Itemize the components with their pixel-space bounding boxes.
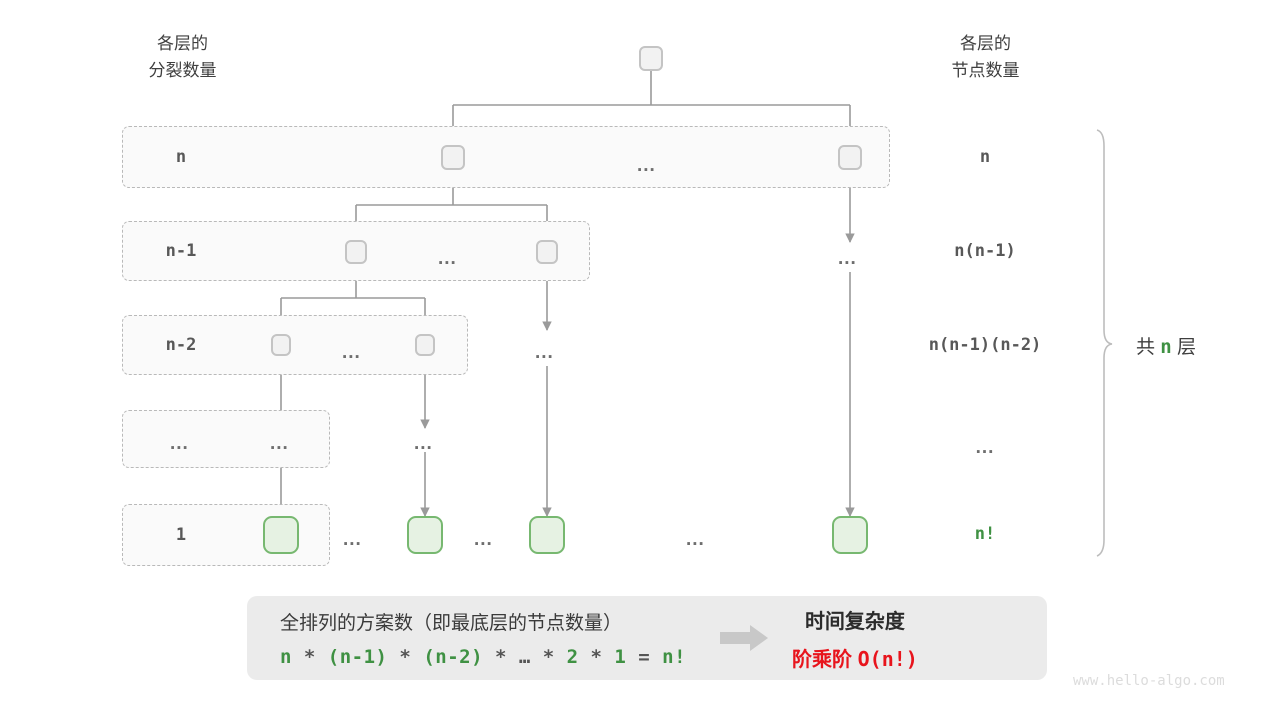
formula-token: (n-2) [423,646,483,668]
split-count-level-3: n-2 [150,335,212,355]
tree-node [345,240,367,264]
tree-node [415,334,435,356]
level-band-1 [122,126,890,188]
ellipsis: ... [535,343,554,362]
ellipsis: ... [637,156,656,175]
tree-node-leaf [263,516,299,554]
node-count-level-4: ... [905,438,1065,457]
tree-node [536,240,558,264]
ellipsis: ... [438,249,457,268]
level-brace [1097,130,1112,556]
tree-node-root [639,46,663,71]
node-count-level-1: n [905,147,1065,167]
formula-token: (n-1) [328,646,388,668]
complexity-label: 阶乘阶 [792,649,852,671]
total-levels-caption: 共 n 层 [1136,332,1196,359]
right-column-caption: 各层的 节点数量 [903,30,1068,84]
tree-node [441,145,465,170]
ellipsis: ... [838,249,857,268]
brace-prefix: 共 [1136,337,1155,358]
summary-title: 全排列的方案数（即最底层的节点数量） [280,608,686,635]
ellipsis: ... [342,343,361,362]
watermark: www.hello-algo.com [1073,673,1225,689]
summary-formula: n * (n-1) * (n-2) * … * 2 * 1 = n! [280,646,686,668]
ellipsis: ... [270,434,289,453]
ellipsis: ... [474,530,493,549]
formula-token: n [280,646,292,668]
summary-right: 时间复杂度 阶乘阶 O(n!) [792,605,918,672]
left-column-caption: 各层的 分裂数量 [100,30,265,84]
formula-token: 1 [614,646,626,668]
formula-token: n! [662,646,686,668]
tree-node-leaf [832,516,868,554]
level-band-4 [122,410,330,468]
brace-variable: n [1160,336,1171,358]
split-count-level-1: n [150,147,212,167]
node-count-level-2: n(n-1) [905,241,1065,261]
tree-node-leaf [407,516,443,554]
split-count-level-5: 1 [150,525,212,545]
ellipsis: ... [343,530,362,549]
tree-node [271,334,291,356]
ellipsis: ... [686,530,705,549]
summary-left: 全排列的方案数（即最底层的节点数量） n * (n-1) * (n-2) * …… [247,608,686,668]
split-count-level-4: ... [170,434,189,453]
tree-node-leaf [529,516,565,554]
complexity-value: 阶乘阶 O(n!) [792,643,918,672]
formula-token: * [579,646,615,668]
node-count-level-5: n! [905,524,1065,544]
formula-token: * … * [483,646,567,668]
right-arrow-icon [720,624,770,652]
formula-token: * [292,646,328,668]
formula-token: * [387,646,423,668]
ellipsis: ... [414,434,433,453]
diagram-canvas: 各层的 分裂数量 各层的 节点数量 n ... n n-1 ... ... n(… [0,0,1280,720]
brace-suffix: 层 [1177,337,1196,358]
complexity-notation: O(n!) [858,647,918,671]
node-count-level-3: n(n-1)(n-2) [905,335,1065,355]
formula-token: 2 [567,646,579,668]
complexity-title: 时间复杂度 [805,605,905,634]
formula-token: = [626,646,662,668]
split-count-level-2: n-1 [150,241,212,261]
tree-node [838,145,862,170]
summary-panel: 全排列的方案数（即最底层的节点数量） n * (n-1) * (n-2) * …… [247,596,1047,680]
